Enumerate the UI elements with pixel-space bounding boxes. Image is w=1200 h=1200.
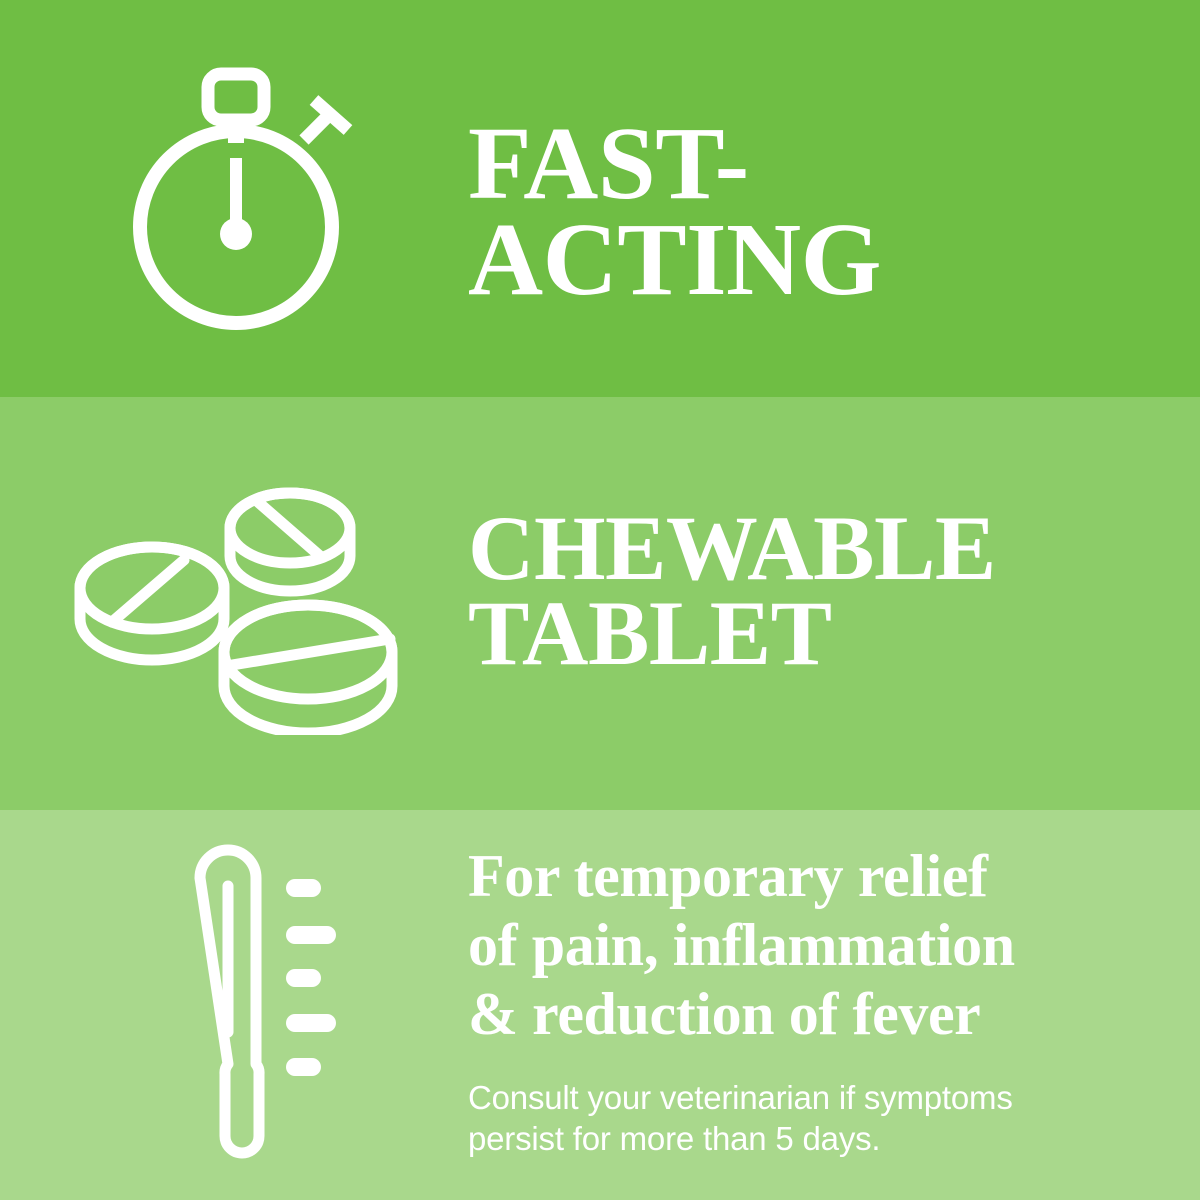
pills-icon: [62, 480, 432, 735]
fineprint-line-2: persist for more than 5 days.: [468, 1118, 1188, 1159]
headline-line-2: ACTING: [468, 212, 1168, 308]
stopwatch-icon: [108, 62, 372, 334]
pill-bottom: [224, 605, 392, 733]
headline-chewable-tablet: CHEWABLE TABLET: [468, 506, 1168, 675]
headline-line-2: TABLET: [468, 591, 1168, 676]
relief-line-2: of pain, inflammation: [468, 911, 1188, 980]
relief-line-1: For temporary relief: [468, 842, 1188, 911]
relief-subhead: For temporary relief of pain, inflammati…: [468, 842, 1188, 1049]
pill-top: [230, 493, 350, 591]
headline-fast-acting: FAST- ACTING: [468, 116, 1168, 307]
headline-line-1: FAST-: [468, 116, 1168, 212]
infographic-canvas: FAST- ACTING: [0, 0, 1200, 1200]
thermometer-ticks: [286, 879, 336, 1076]
pill-left: [80, 547, 224, 660]
relief-text-block: For temporary relief of pain, inflammati…: [468, 842, 1188, 1160]
relief-line-3: & reduction of fever: [468, 980, 1188, 1049]
relief-fineprint: Consult your veterinarian if symptoms pe…: [468, 1077, 1188, 1160]
headline-line-1: CHEWABLE: [468, 506, 1168, 591]
fineprint-line-1: Consult your veterinarian if symptoms: [468, 1077, 1188, 1118]
thermometer-icon: [186, 836, 356, 1166]
